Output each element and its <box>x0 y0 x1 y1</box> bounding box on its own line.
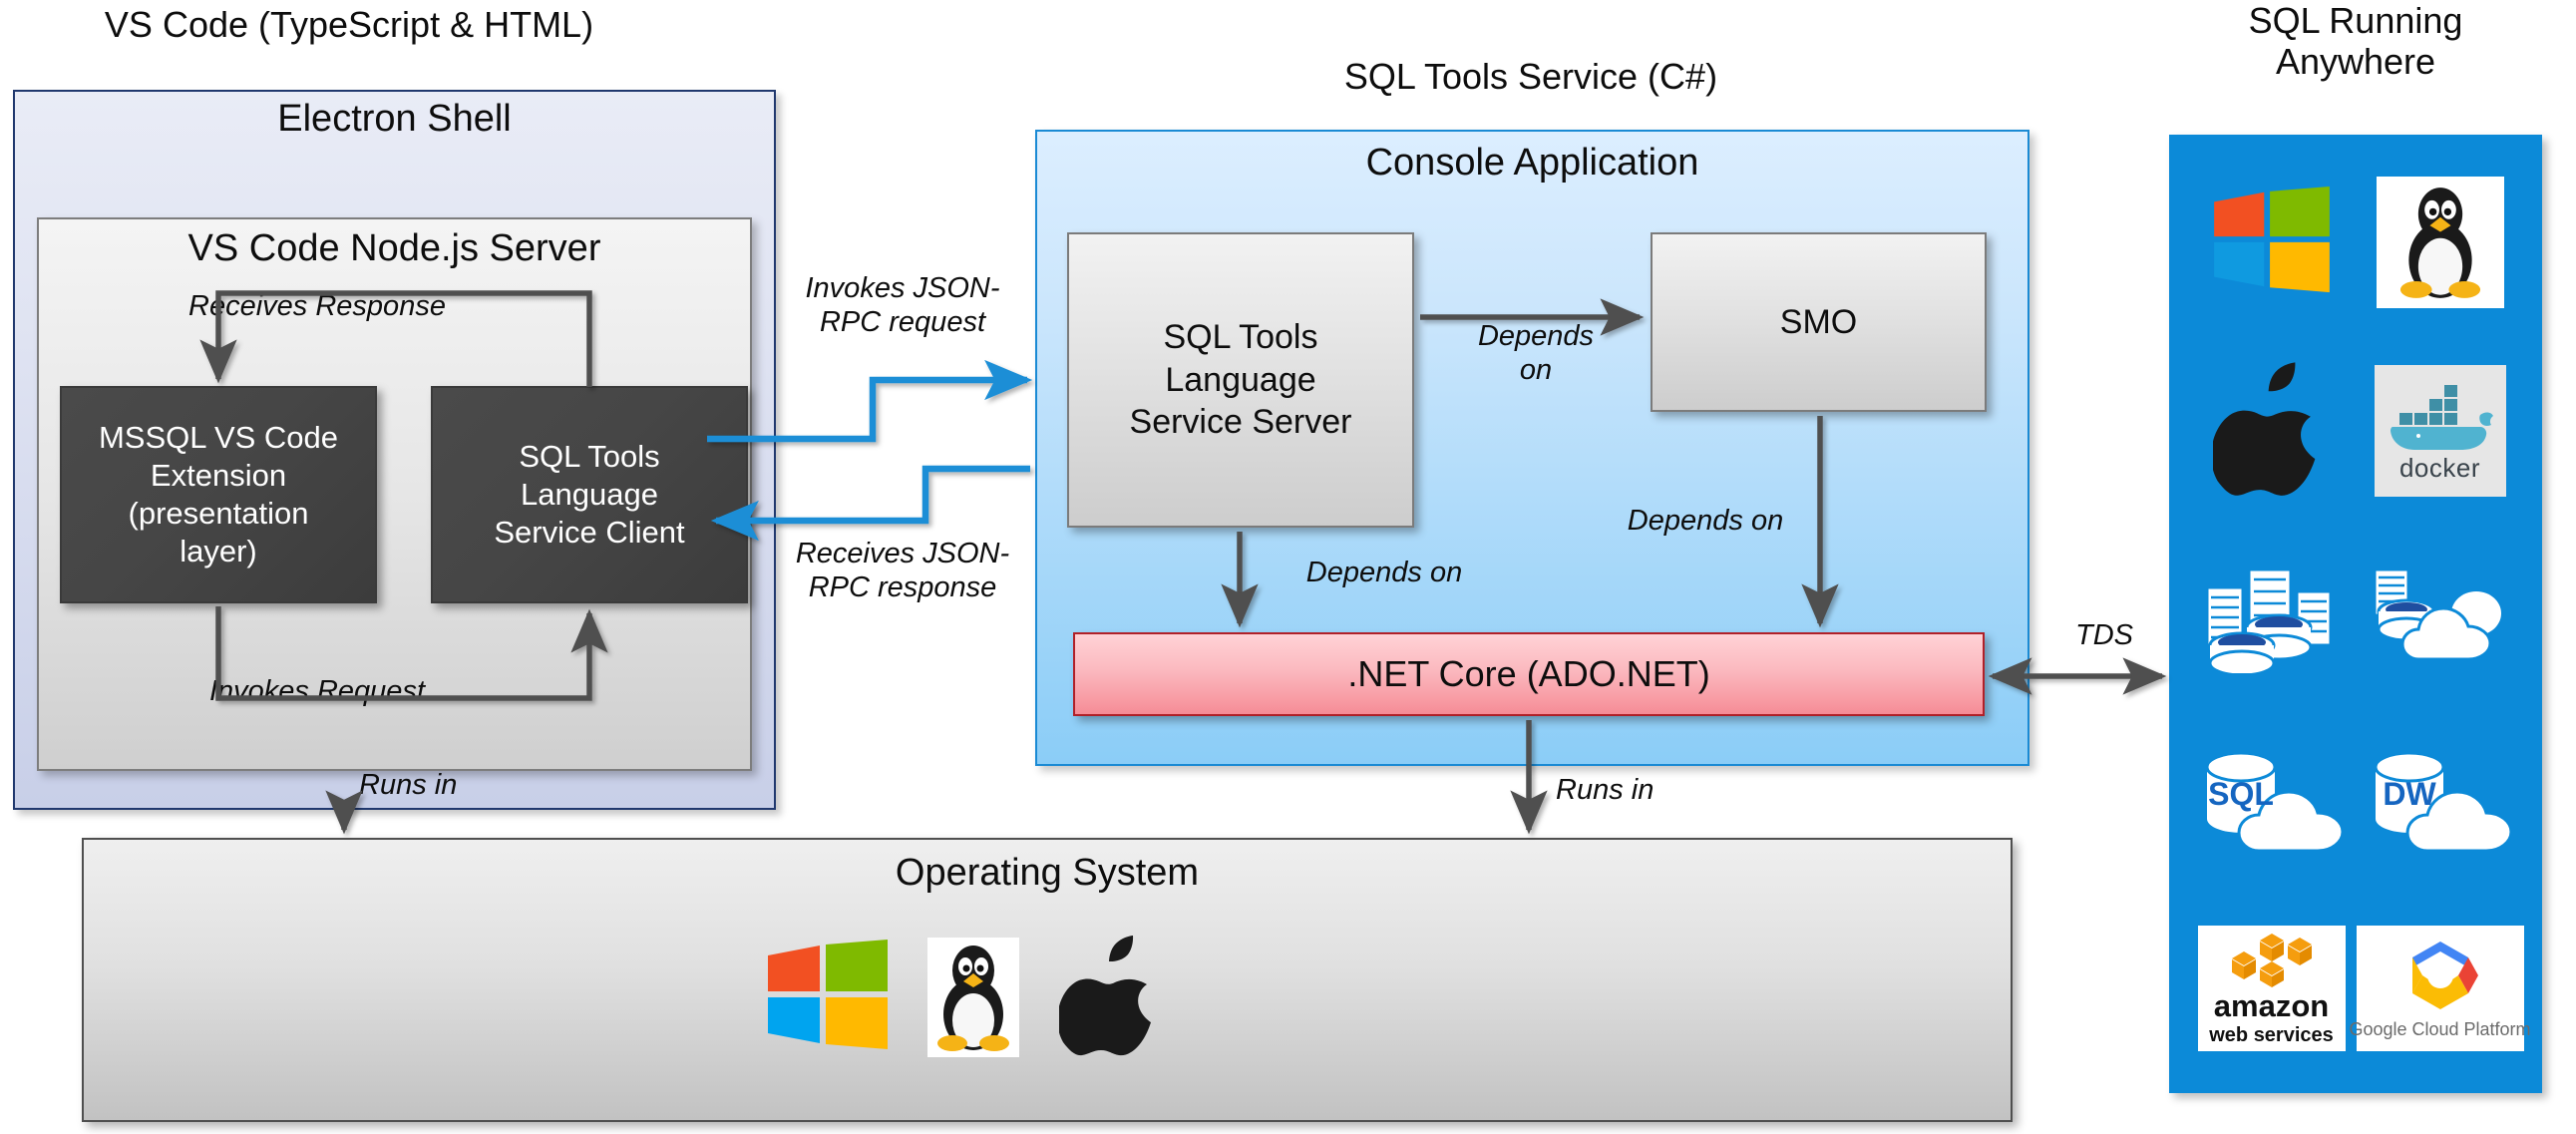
cloud-cell-docker: docker <box>2356 337 2524 526</box>
dotnet-core-ado-net-box[interactable]: .NET Core (ADO.NET) <box>1073 632 1985 716</box>
gcp-label: Google Cloud Platform <box>2349 1019 2530 1040</box>
cloud-cell-azure-sql: SQL <box>2187 713 2356 902</box>
amazon-web-services-logo-icon: amazon web services <box>2198 926 2346 1051</box>
cloud-cell-on-premises <box>2187 526 2356 714</box>
azure-sql-data-warehouse-icon: DW <box>2362 747 2519 868</box>
cloud-cell-gcp: Google Cloud Platform <box>2356 902 2524 1075</box>
label-invokes-json-rpc-request: Invokes JSON- RPC request <box>788 271 1017 339</box>
cloud-cell-aws: amazon web services <box>2187 902 2356 1075</box>
title-sql-tools-service: SQL Tools Service (C#) <box>1092 56 1970 97</box>
label-depends-on-dotnet-from-smo: Depends on <box>1576 504 1835 538</box>
google-cloud-platform-logo-icon: Google Cloud Platform <box>2357 926 2524 1051</box>
vscode-node-server-title: VS Code Node.js Server <box>37 227 752 271</box>
sql-tools-language-service-client-box[interactable]: SQL Tools Language Service Client <box>431 386 748 603</box>
mssql-vscode-extension-box[interactable]: MSSQL VS Code Extension (presentation la… <box>60 386 377 603</box>
label-runs-in-right: Runs in <box>1556 773 1755 807</box>
smo-box[interactable]: SMO <box>1651 232 1987 412</box>
amazon-label: amazon <box>2214 991 2329 1020</box>
on-premises-datacenter-icon <box>2197 562 2347 678</box>
amazon-sub-label: web services <box>2209 1025 2334 1045</box>
docker-label: docker <box>2399 453 2480 484</box>
title-vscode: VS Code (TypeScript & HTML) <box>0 4 698 45</box>
cloud-cell-linux <box>2356 149 2524 337</box>
linux-tux-icon <box>2377 177 2504 308</box>
apple-logo-icon <box>1059 933 1165 1063</box>
linux-tux-icon <box>927 938 1019 1057</box>
cloud-cell-apple <box>2187 337 2356 526</box>
title-sql-running-anywhere: SQL Running Anywhere <box>2169 0 2542 83</box>
label-invokes-request: Invokes Request <box>108 674 527 708</box>
windows-logo-icon <box>2214 187 2330 299</box>
windows-logo-icon <box>768 940 888 1056</box>
operating-system-icon-row <box>768 918 1326 1077</box>
azure-cloud-database-icon <box>2367 562 2514 678</box>
docker-whale-icon: docker <box>2375 365 2506 497</box>
svg-text:SQL: SQL <box>2208 776 2274 812</box>
cloud-cell-azure-cloud-db <box>2356 526 2524 714</box>
apple-logo-icon <box>2213 359 2331 504</box>
sql-running-anywhere-panel: docker <box>2169 135 2542 1093</box>
label-runs-in-left: Runs in <box>359 768 558 802</box>
cloud-cell-windows <box>2187 149 2356 337</box>
operating-system-title: Operating System <box>82 852 2013 896</box>
label-tds: TDS <box>2044 618 2164 652</box>
cloud-cell-azure-dw: DW <box>2356 713 2524 902</box>
label-receives-response: Receives Response <box>108 289 527 323</box>
architecture-diagram: VS Code (TypeScript & HTML) SQL Tools Se… <box>0 0 2576 1134</box>
label-depends-on-smo: Depends on <box>1436 319 1636 387</box>
svg-text:DW: DW <box>2383 776 2436 812</box>
sql-tools-language-service-server-box[interactable]: SQL Tools Language Service Server <box>1067 232 1414 528</box>
console-application-title: Console Application <box>1035 142 2029 186</box>
electron-shell-title: Electron Shell <box>13 98 776 142</box>
label-receives-json-rpc-response: Receives JSON- RPC response <box>788 537 1017 604</box>
azure-sql-database-icon: SQL <box>2193 747 2351 868</box>
label-depends-on-dotnet-from-server: Depends on <box>1255 556 1514 589</box>
